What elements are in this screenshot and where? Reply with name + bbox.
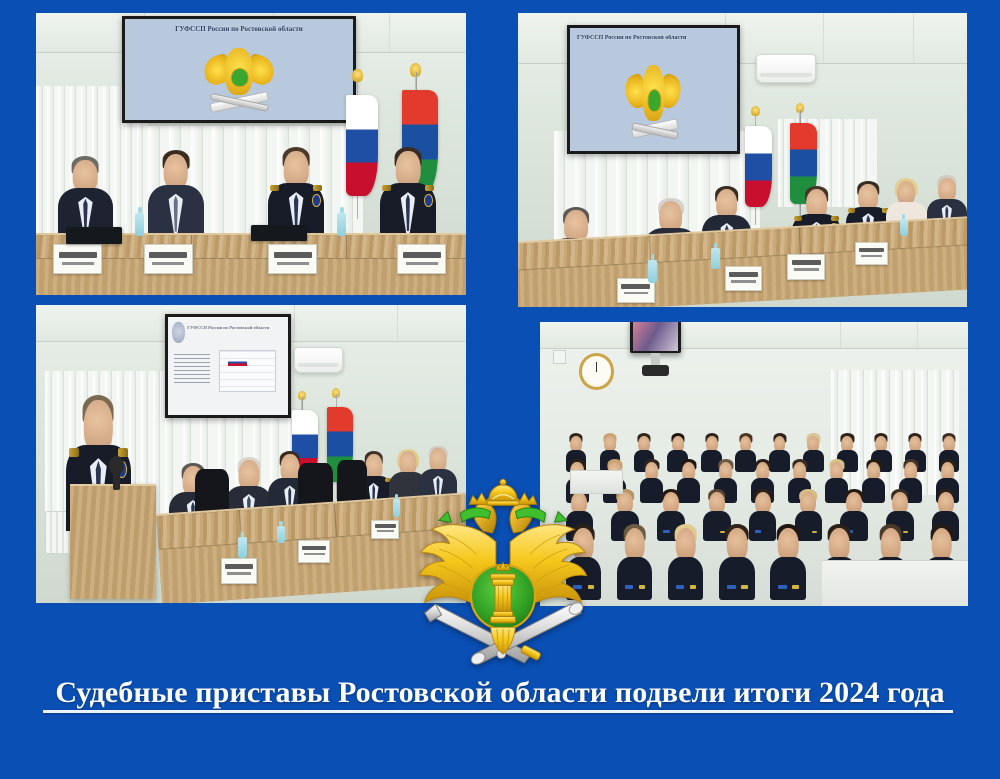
- poster-caption: Судебные приставы Ростовской области под…: [0, 676, 1000, 710]
- wall-monitor: [630, 322, 681, 353]
- projector-screen-title: ГУФССП России по Ростовской области: [187, 325, 283, 330]
- nameplate: [53, 244, 102, 274]
- projector-screen-title: ГУФССП России по Ростовской области: [134, 25, 344, 33]
- poster-canvas: ГУФССП России по Ростовской области: [0, 0, 1000, 779]
- water-bottle: [135, 213, 144, 236]
- photo-bottom-left: ГУФССП России по Ростовской области: [36, 305, 466, 603]
- podium: [70, 484, 156, 599]
- projector-screen: ГУФССП России по Ростовской области: [567, 25, 739, 154]
- projector-screen: ГУФССП России по Ростовской области: [122, 16, 356, 124]
- nameplate: [371, 520, 399, 540]
- water-bottle: [238, 537, 247, 558]
- nameplate: [787, 254, 825, 280]
- ribbon: [439, 508, 567, 522]
- microphone: [113, 469, 120, 490]
- desk-surface: [822, 560, 968, 606]
- imperial-crown: [487, 479, 519, 505]
- fssp-emblem-icon: [627, 57, 680, 136]
- water-bottle: [900, 219, 908, 237]
- slide-emblem-icon: [172, 322, 185, 344]
- nameplate: [855, 242, 888, 265]
- water-bottle: [711, 248, 720, 269]
- water-bottle: [393, 499, 400, 517]
- fssp-emblem: [414, 478, 592, 668]
- nameplate: [144, 244, 193, 274]
- slide-chart: [219, 350, 276, 391]
- water-bottle: [277, 526, 286, 544]
- photo-top-left: ГУФССП России по Ростовской области: [36, 13, 466, 295]
- fssp-emblem-icon: [205, 41, 273, 108]
- nameplate: [268, 244, 317, 274]
- flag-russia: [337, 78, 380, 219]
- slide-text-block: [174, 354, 210, 383]
- air-conditioner: [756, 54, 816, 82]
- caption-text: Судебные приставы Ростовской области под…: [55, 676, 944, 710]
- caption-underline: [43, 710, 953, 713]
- projector-screen-title: ГУФССП России по Ростовской области: [577, 35, 730, 41]
- laptop: [66, 227, 122, 244]
- nameplate: [298, 540, 330, 563]
- nameplate: [725, 266, 763, 292]
- nameplate: [221, 558, 257, 584]
- shield: [471, 562, 535, 629]
- photo-top-right: ГУФССП России по Ростовской области: [518, 13, 967, 307]
- nameplate: [397, 244, 446, 274]
- presidium-member: [148, 154, 204, 244]
- laptop: [251, 225, 307, 242]
- air-conditioner: [294, 347, 343, 373]
- wall-socket: [553, 350, 566, 363]
- slide-chart-flag: [228, 359, 247, 366]
- water-bottle: [337, 213, 346, 236]
- presidium-member: [380, 151, 436, 244]
- photo-bottom-right: [540, 322, 968, 606]
- projector-screen: ГУФССП России по Ростовской области: [165, 314, 291, 418]
- water-bottle: [648, 260, 657, 284]
